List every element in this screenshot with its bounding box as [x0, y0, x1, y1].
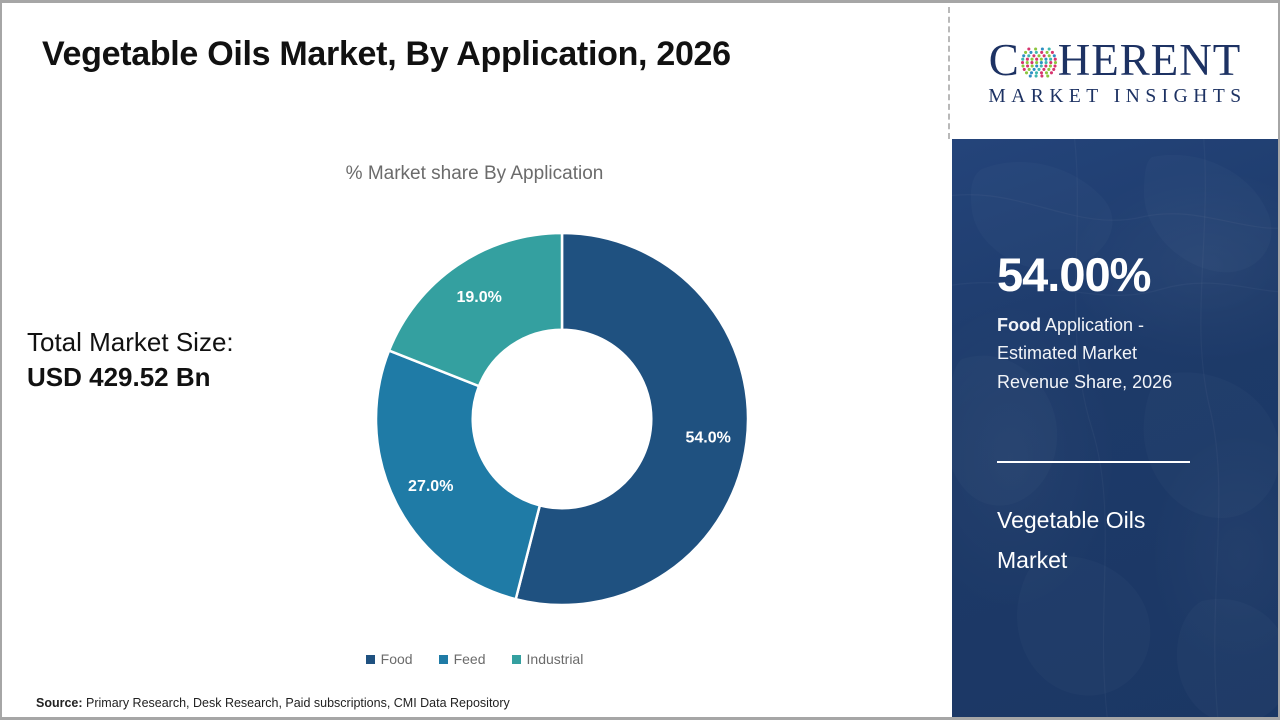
total-market-size-block: Total Market Size: USD 429.52 Bn: [27, 325, 357, 395]
vertical-dashed-divider: [948, 7, 950, 139]
legend-item-industrial[interactable]: Industrial: [512, 651, 584, 667]
main-chart-panel: Vegetable Oils Market, By Application, 2…: [2, 3, 947, 717]
logo-wordmark-rest: HERENT: [1058, 38, 1241, 83]
total-market-size-label: Total Market Size:: [27, 325, 357, 360]
donut-chart-svg: 54.0%27.0%19.0%: [374, 231, 750, 607]
stat-caption: Food Application - Estimated Market Reve…: [997, 311, 1197, 396]
infographic-root: Vegetable Oils Market, By Application, 2…: [0, 0, 1280, 720]
source-footer: Source: Primary Research, Desk Research,…: [36, 696, 510, 710]
total-market-size-value: USD 429.52 Bn: [27, 360, 357, 395]
donut-chart: 54.0%27.0%19.0%: [374, 231, 750, 607]
page-title: Vegetable Oils Market, By Application, 2…: [42, 35, 731, 74]
sidebar-market-name: Vegetable Oils Market: [997, 501, 1207, 580]
legend-label-industrial: Industrial: [527, 651, 584, 667]
legend-item-food[interactable]: Food: [366, 651, 413, 667]
chart-subtitle: % Market share By Application: [2, 163, 947, 185]
stat-value: 54.00%: [997, 251, 1150, 298]
donut-slice-feed[interactable]: [376, 351, 540, 600]
legend-item-feed[interactable]: Feed: [439, 651, 486, 667]
donut-data-label-industrial: 19.0%: [457, 289, 502, 306]
legend-label-food: Food: [381, 651, 413, 667]
legend-swatch-industrial: [512, 655, 521, 664]
legend-swatch-food: [366, 655, 375, 664]
logo-letter-c: C: [989, 38, 1020, 83]
logo-wordmark: C HERENT: [989, 36, 1242, 84]
source-text: Primary Research, Desk Research, Paid su…: [83, 696, 510, 710]
donut-data-label-feed: 27.0%: [408, 478, 453, 495]
sidebar-divider: [997, 461, 1190, 463]
stat-caption-emphasis: Food: [997, 315, 1041, 335]
sidebar-stat-panel: 54.00% Food Application - Estimated Mark…: [952, 139, 1278, 717]
globe-dots-icon: [1021, 44, 1057, 80]
right-sidebar: C HERENT MARKET INSIGHTS: [952, 3, 1278, 717]
legend-label-feed: Feed: [454, 651, 486, 667]
source-key: Source:: [36, 696, 83, 710]
legend-swatch-feed: [439, 655, 448, 664]
logo-tagline: MARKET INSIGHTS: [983, 86, 1246, 108]
donut-slice-group: [376, 233, 748, 605]
world-map-texture: [952, 139, 1278, 717]
donut-data-label-food: 54.0%: [685, 429, 730, 446]
chart-legend: FoodFeedIndustrial: [2, 651, 947, 667]
brand-logo: C HERENT MARKET INSIGHTS: [952, 7, 1278, 137]
